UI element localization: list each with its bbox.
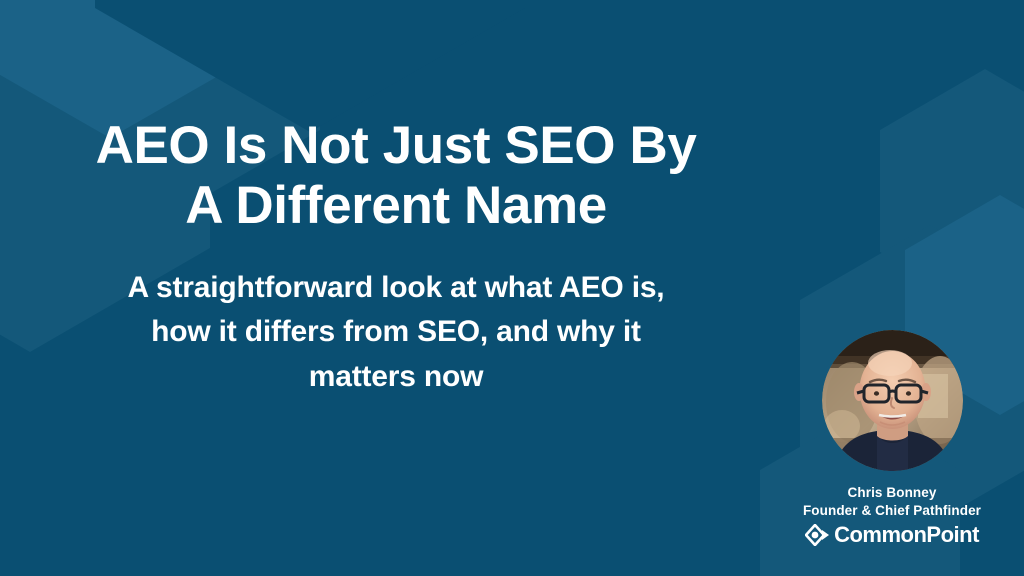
profile-photo [822,330,963,471]
brand-name: CommonPoint [834,524,979,546]
slide-subtitle: A straightforward look at what AEO is, h… [66,266,726,399]
speaker-name: Chris Bonney [848,484,937,502]
diamond-dot-icon [805,524,830,546]
speaker-role: Founder & Chief Pathfinder [803,502,981,520]
slide-content: AEO Is Not Just SEO By A Different Name … [0,0,792,576]
presentation-slide: AEO Is Not Just SEO By A Different Name … [0,0,1024,576]
page-title: AEO Is Not Just SEO By A Different Name [26,116,766,237]
brand-logo: CommonPoint [805,524,979,546]
speaker-attribution: Chris Bonney Founder & Chief Pathfinder … [772,330,1012,546]
avatar [822,330,963,471]
